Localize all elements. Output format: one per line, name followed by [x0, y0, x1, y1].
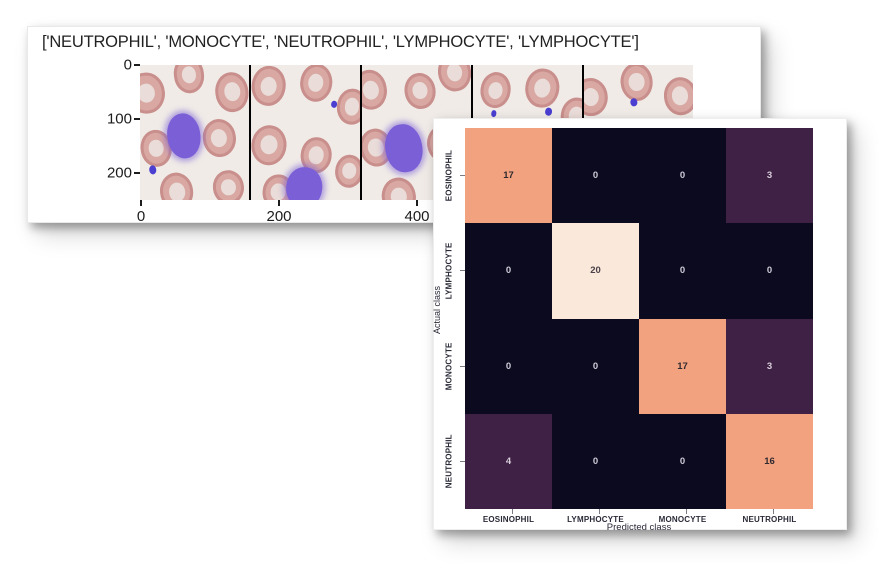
cm-cell: 3 [726, 128, 813, 223]
cm-cell: 20 [552, 223, 639, 318]
cm-cell: 17 [639, 319, 726, 414]
cm-cell: 0 [639, 223, 726, 318]
white-blood-cell [382, 122, 425, 175]
cm-cell: 16 [726, 414, 813, 509]
cm-col-tick [686, 509, 687, 514]
cm-row-label: MONOCYTE [443, 319, 455, 414]
cm-cell: 0 [552, 128, 639, 223]
sample-tile [251, 65, 360, 200]
x-tick-mark [140, 200, 142, 206]
y-tick-label: 100 [88, 111, 132, 128]
cm-row-label: LYMPHOCYTE [443, 223, 455, 318]
cm-cell: 0 [552, 414, 639, 509]
confusion-matrix-panel: Actual class EOSINOPHIL LYMPHOCYTE MONOC… [433, 118, 847, 530]
y-tick-label: 200 [88, 165, 132, 182]
cm-cell: 3 [726, 319, 813, 414]
cm-cell: 0 [465, 319, 552, 414]
cm-cell: 0 [552, 319, 639, 414]
cm-col-tick [773, 509, 774, 514]
y-tick-label: 0 [88, 57, 132, 74]
cm-cell: 0 [639, 128, 726, 223]
cm-cell: 4 [465, 414, 552, 509]
x-tick-mark [416, 200, 418, 206]
cm-row-label: EOSINOPHIL [443, 128, 455, 223]
cm-row-label: NEUTROPHIL [443, 414, 455, 509]
sample-tile [140, 65, 249, 200]
x-tick-mark [278, 200, 280, 206]
y-axis-label: Actual class [430, 119, 444, 500]
x-tick-label: 200 [266, 208, 291, 225]
page-title: ['NEUTROPHIL', 'MONOCYTE', 'NEUTROPHIL',… [42, 33, 639, 52]
cm-cell: 0 [726, 223, 813, 318]
cm-col-tick [512, 509, 513, 514]
cm-col-tick [599, 509, 600, 514]
x-tick-label: 0 [137, 208, 145, 225]
cm-cell: 0 [465, 223, 552, 318]
x-axis-label: Predicted class [465, 522, 813, 533]
confusion-matrix-heatmap: 17 0 0 3 0 20 0 0 0 0 17 3 4 0 0 16 [465, 128, 813, 509]
cm-cell: 0 [639, 414, 726, 509]
x-tick-label: 400 [404, 208, 429, 225]
cm-cell: 17 [465, 128, 552, 223]
